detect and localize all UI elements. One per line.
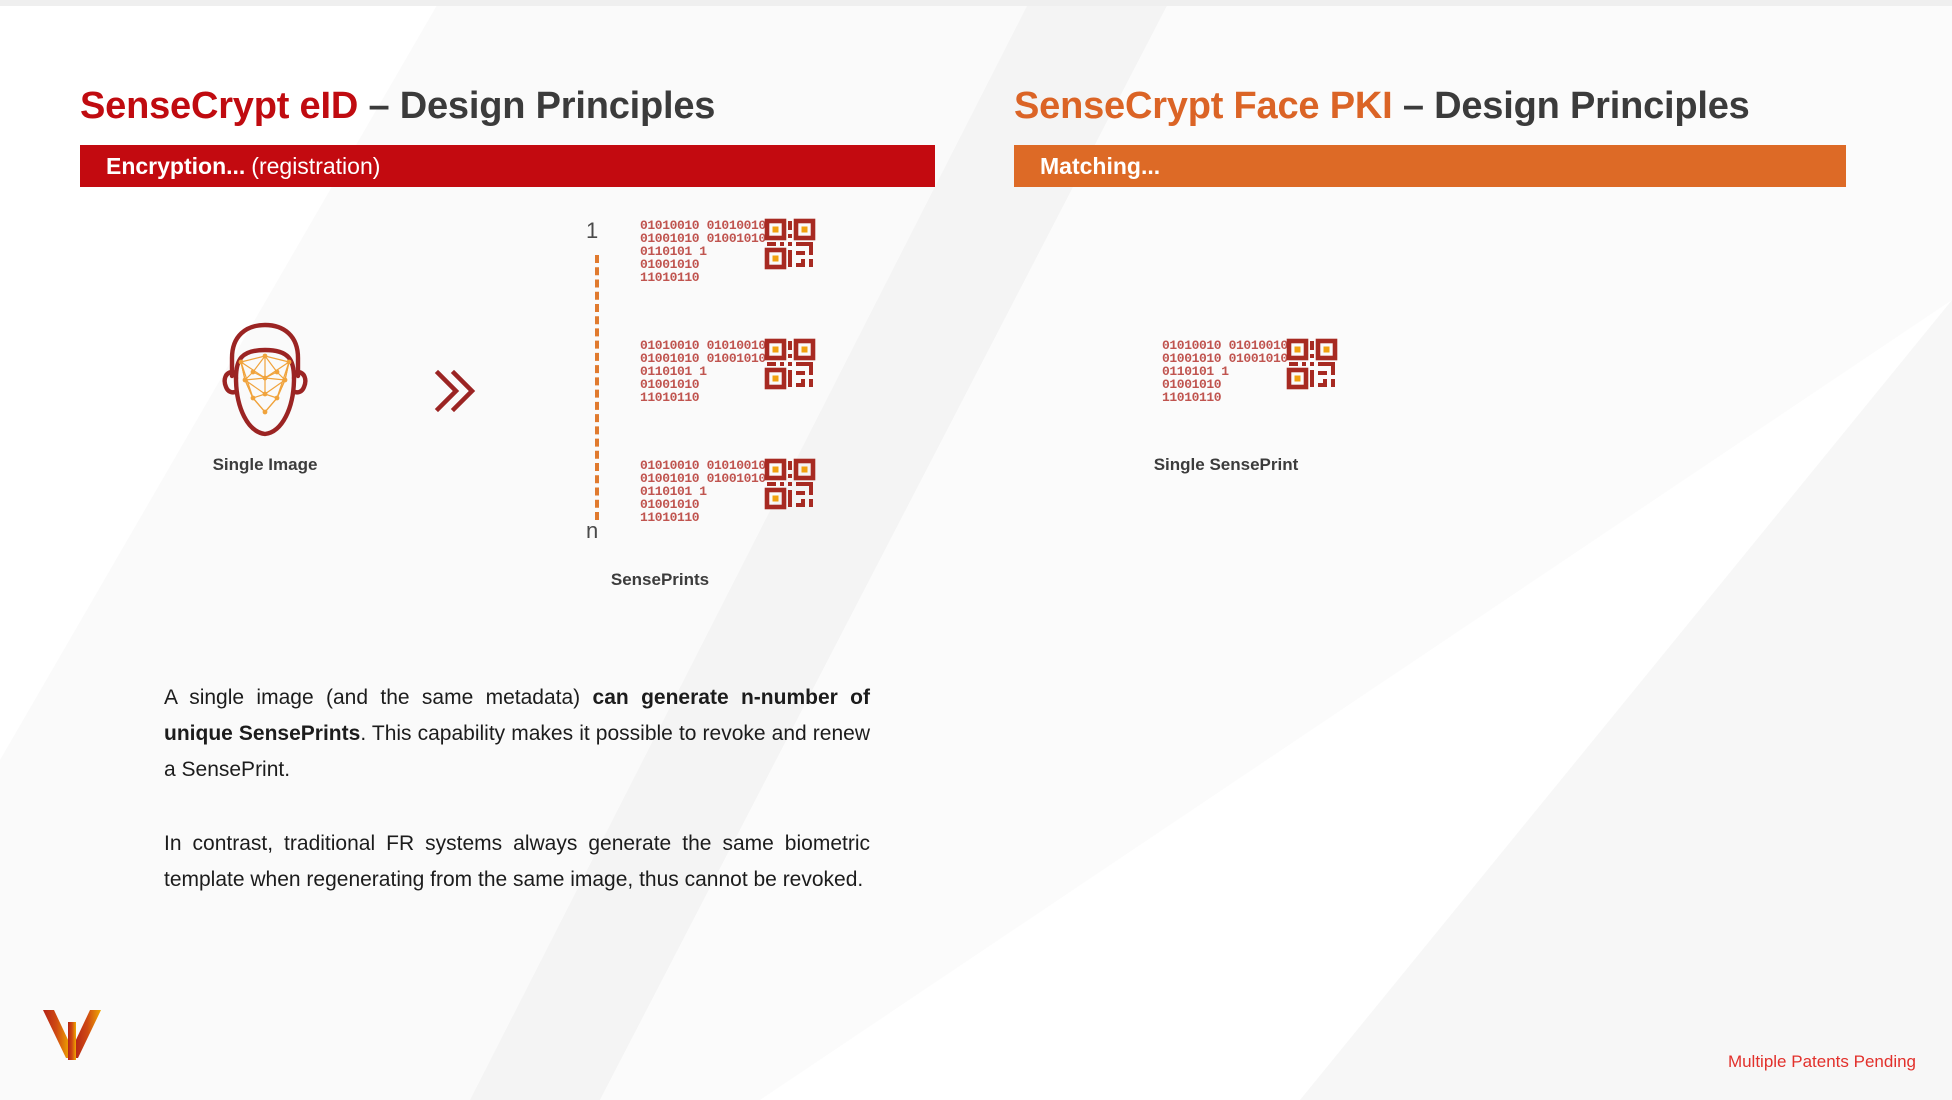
left-title-rest: Design Principles	[400, 85, 715, 127]
senseprint-item: 01010010 01010010 01001010 01001010 0110…	[640, 338, 816, 404]
left-title-brand: SenseCrypt eID	[80, 85, 358, 127]
face-mesh-svg	[215, 320, 315, 440]
senseprint-item: 01010010 01010010 01001010 01001010 0110…	[640, 218, 816, 284]
right-title-dash: –	[1392, 85, 1434, 127]
senseprint-bits: 01010010 01010010 01001010 01001010 0110…	[640, 218, 766, 284]
left-arrow-icon	[432, 365, 476, 422]
right-ribbon-strong: Matching...	[1040, 153, 1160, 180]
left-paragraph-2: In contrast, traditional FR systems alwa…	[164, 826, 870, 898]
qr-code-icon	[764, 218, 816, 275]
logo-svg	[40, 1000, 104, 1062]
senseprint-bits: 01010010 01010010 01001010 01001010 0110…	[640, 338, 766, 404]
right-panel-title: SenseCrypt Face PKI – Design Principles	[1014, 85, 1750, 128]
left-ribbon-strong: Encryption...	[106, 153, 245, 180]
left-ribbon: Encryption... (registration)	[80, 145, 935, 187]
sensecrypt-v-logo[interactable]	[40, 1000, 104, 1067]
left-panel: SenseCrypt eID – Design Principles Encry…	[0, 0, 976, 1100]
left-title-dash: –	[358, 85, 400, 127]
qr-code-icon	[1286, 338, 1338, 395]
right-ribbon: Matching...	[1014, 145, 1846, 187]
patents-notice: Multiple Patents Pending	[1728, 1052, 1916, 1072]
face-mesh-icon	[215, 320, 315, 445]
qr-code-icon	[764, 458, 816, 515]
slide-canvas: SenseCrypt eID – Design Principles Encry…	[0, 0, 1952, 1100]
right-source-senseprint: 01010010 01010010 01001010 01001010 0110…	[1162, 338, 1338, 404]
right-title-brand: SenseCrypt Face PKI	[1014, 85, 1392, 127]
qr-code-icon	[764, 338, 816, 395]
double-chevron-right-icon	[432, 365, 476, 417]
right-source-label: Single SensePrint	[1036, 455, 1416, 475]
left-source-label: Single Image	[155, 455, 375, 475]
left-ribbon-light: (registration)	[251, 153, 380, 180]
left-dashed-connector	[595, 255, 599, 520]
left-marker-bottom: n	[586, 518, 598, 544]
left-paragraph-1: A single image (and the same metadata) c…	[164, 680, 870, 788]
right-title-rest: Design Principles	[1434, 85, 1749, 127]
senseprint-bits: 01010010 01010010 01001010 01001010 0110…	[1162, 338, 1288, 404]
left-output-label: SensePrints	[540, 570, 780, 590]
senseprint-bits: 01010010 01010010 01001010 01001010 0110…	[640, 458, 766, 524]
left-marker-top: 1	[586, 218, 598, 244]
left-panel-title: SenseCrypt eID – Design Principles	[80, 85, 715, 128]
senseprint-item: 01010010 01010010 01001010 01001010 0110…	[640, 458, 816, 524]
right-panel: SenseCrypt Face PKI – Design Principles …	[976, 0, 1952, 1100]
